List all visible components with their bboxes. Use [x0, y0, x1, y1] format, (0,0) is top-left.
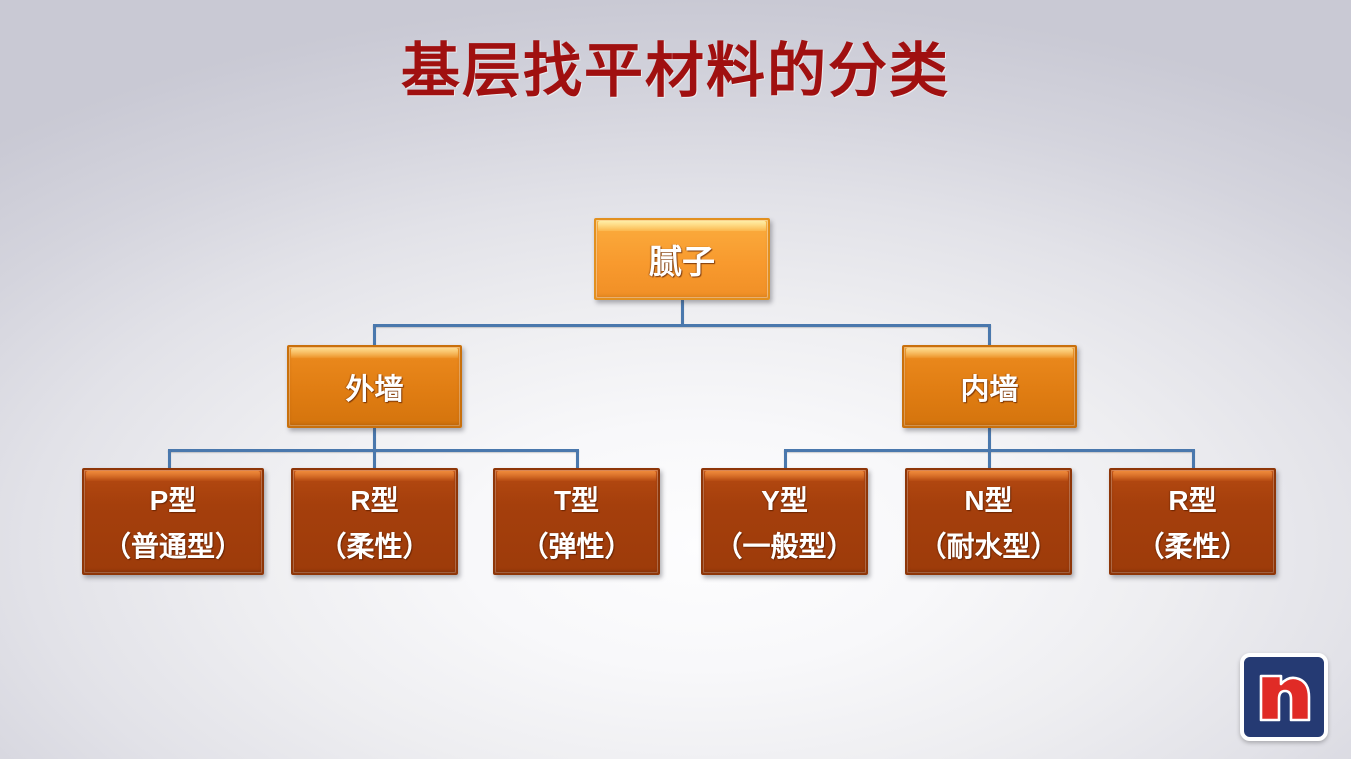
node-label-secondary: （柔性）: [318, 525, 430, 565]
node-label-secondary: （耐水型）: [918, 525, 1058, 565]
slide-canvas: 基层找平材料的分类 腻子 外墙 内墙 P型 （普通型） R型 （柔性） T型 （…: [0, 0, 1351, 759]
connector-level2-bus: [373, 324, 991, 327]
node-outer-wall[interactable]: 外墙: [287, 345, 462, 428]
node-root-putty[interactable]: 腻子: [594, 218, 770, 300]
connector-outer-leaf-3: [576, 449, 579, 469]
logo-letter-n-icon: [1240, 653, 1328, 741]
node-label: 外墙: [345, 366, 403, 408]
node-label-primary: R型: [1168, 479, 1216, 519]
node-label-secondary: （一般型）: [714, 525, 854, 565]
node-inner-wall[interactable]: 内墙: [902, 345, 1077, 428]
node-leaf-r-type-interior[interactable]: R型 （柔性）: [1109, 468, 1276, 575]
connector-inner-wall-down: [988, 428, 991, 450]
node-leaf-p-type[interactable]: P型 （普通型）: [82, 468, 264, 575]
connector-root-down: [681, 300, 684, 325]
node-label-primary: N型: [964, 479, 1012, 519]
node-label: 内墙: [960, 366, 1018, 408]
node-label-primary: P型: [150, 479, 197, 519]
connector-inner-leaf-2: [988, 449, 991, 469]
connector-inner-leaf-3: [1192, 449, 1195, 469]
node-label-secondary: （弹性）: [520, 525, 632, 565]
connector-inner-leaf-1: [784, 449, 787, 469]
node-leaf-n-type[interactable]: N型 （耐水型）: [905, 468, 1072, 575]
node-leaf-r-type-exterior[interactable]: R型 （柔性）: [291, 468, 458, 575]
node-label-secondary: （柔性）: [1136, 525, 1248, 565]
node-label-primary: Y型: [761, 479, 808, 519]
connector-to-inner-wall: [988, 324, 991, 346]
connector-outer-leaf-2: [373, 449, 376, 469]
node-label-secondary: （普通型）: [103, 525, 243, 565]
connector-outer-leaf-1: [168, 449, 171, 469]
page-title: 基层找平材料的分类: [0, 42, 1351, 101]
connector-to-outer-wall: [373, 324, 376, 346]
node-leaf-y-type[interactable]: Y型 （一般型）: [701, 468, 868, 575]
node-label-primary: R型: [350, 479, 398, 519]
node-label: 腻子: [649, 235, 715, 283]
connector-outer-wall-down: [373, 428, 376, 450]
node-leaf-t-type[interactable]: T型 （弹性）: [493, 468, 660, 575]
brand-logo: [1240, 653, 1328, 741]
node-label-primary: T型: [554, 479, 599, 519]
